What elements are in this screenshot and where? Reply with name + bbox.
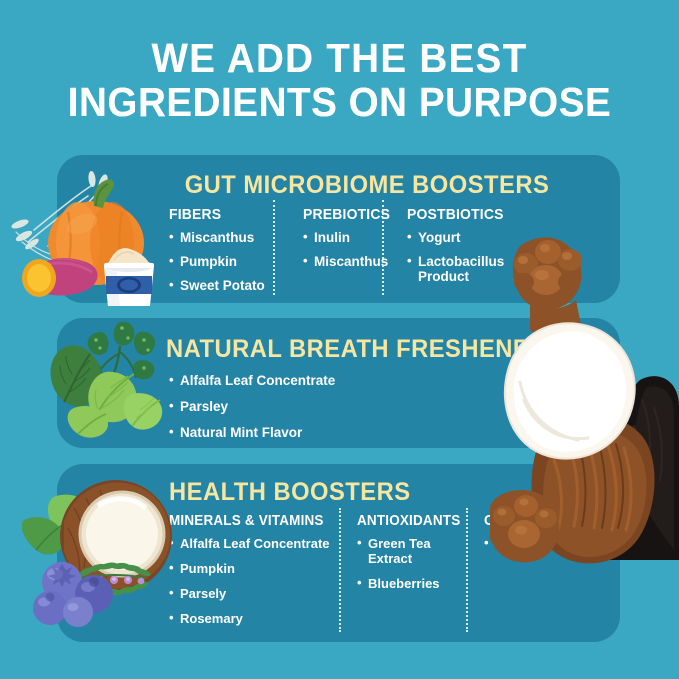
column-prebiotics: PREBIOTICS Inulin Miscanthus: [287, 206, 391, 302]
list-item: Pumpkin: [169, 254, 287, 269]
section-heading-health-boosters: HEALTH BOOSTERS: [169, 478, 411, 507]
column-divider: [339, 508, 341, 632]
list-antioxidants: Green Tea Extract Blueberries: [357, 536, 468, 591]
column-divider: [273, 200, 275, 295]
title-line-1: WE ADD THE BEST: [20, 36, 658, 80]
section-card-gut-microbiome: GUT MICROBIOME BOOSTERS FIBERS Miscanthu…: [57, 155, 620, 303]
list-fibers: Miscanthus Pumpkin Sweet Potato: [169, 230, 287, 293]
gut-columns: FIBERS Miscanthus Pumpkin Sweet Potato P…: [169, 206, 609, 302]
list-item: Blueberries: [357, 576, 468, 591]
list-item: Alfalfa Leaf Concentrate: [169, 536, 341, 551]
section-card-breath-fresheners: NATURAL BREATH FRESHENERS Alfalfa Leaf C…: [57, 318, 620, 448]
column-title-postbiotics: POSTBIOTICS: [407, 206, 532, 223]
column-antioxidants: ANTIOXIDANTS Green Tea Extract Blueberri…: [341, 513, 468, 636]
column-title-fibers: FIBERS: [169, 206, 279, 223]
list-prebiotics: Inulin Miscanthus: [303, 230, 391, 269]
infographic-canvas: WE ADD THE BEST INGREDIENTS ON PURPOSE G…: [0, 0, 679, 679]
list-item: Lactobacillus Product: [407, 254, 541, 284]
list-item: Miscanthus: [303, 254, 391, 269]
column-divider: [466, 508, 468, 632]
column-divider: [382, 200, 384, 295]
list-item: Rosemary: [169, 611, 341, 626]
list-item: Sweet Potato: [169, 278, 287, 293]
section-heading-gut-microbiome: GUT MICROBIOME BOOSTERS: [71, 171, 606, 200]
column-omega-fatty-acids: OMEGA FATTY ACIDS Coconut Oil: [468, 513, 618, 636]
column-title-minerals-vitamins: MINERALS & VITAMINS: [169, 513, 329, 529]
list-postbiotics: Yogurt Lactobacillus Product: [407, 230, 541, 284]
list-item: Pumpkin: [169, 561, 341, 576]
list-minerals-vitamins: Alfalfa Leaf Concentrate Pumpkin Parsely…: [169, 536, 341, 626]
list-omega-fatty-acids: Coconut Oil: [484, 536, 618, 551]
list-item: Miscanthus: [169, 230, 287, 245]
column-fibers: FIBERS Miscanthus Pumpkin Sweet Potato: [169, 206, 287, 302]
list-item: Alfalfa Leaf Concentrate: [169, 373, 499, 388]
list-item: Parsley: [169, 399, 499, 414]
list-breath-fresheners: Alfalfa Leaf Concentrate Parsley Natural…: [169, 373, 499, 451]
column-postbiotics: POSTBIOTICS Yogurt Lactobacillus Product: [391, 206, 541, 302]
title-line-2: INGREDIENTS ON PURPOSE: [20, 80, 658, 124]
list-item: Inulin: [303, 230, 391, 245]
section-heading-breath-fresheners: NATURAL BREATH FRESHENERS: [71, 335, 606, 364]
list-item: Yogurt: [407, 230, 541, 245]
list-item: Coconut Oil: [484, 536, 618, 551]
page-title: WE ADD THE BEST INGREDIENTS ON PURPOSE: [0, 36, 679, 124]
list-item: Green Tea Extract: [357, 536, 468, 566]
list-item: Parsely: [169, 586, 341, 601]
health-columns: MINERALS & VITAMINS Alfalfa Leaf Concent…: [169, 513, 619, 636]
column-minerals-vitamins: MINERALS & VITAMINS Alfalfa Leaf Concent…: [169, 513, 341, 636]
list-item: Natural Mint Flavor: [169, 425, 499, 440]
column-title-antioxidants: ANTIOXIDANTS: [357, 513, 460, 529]
column-title-omega-fatty-acids: OMEGA FATTY ACIDS: [484, 513, 609, 529]
column-title-prebiotics: PREBIOTICS: [303, 206, 385, 223]
